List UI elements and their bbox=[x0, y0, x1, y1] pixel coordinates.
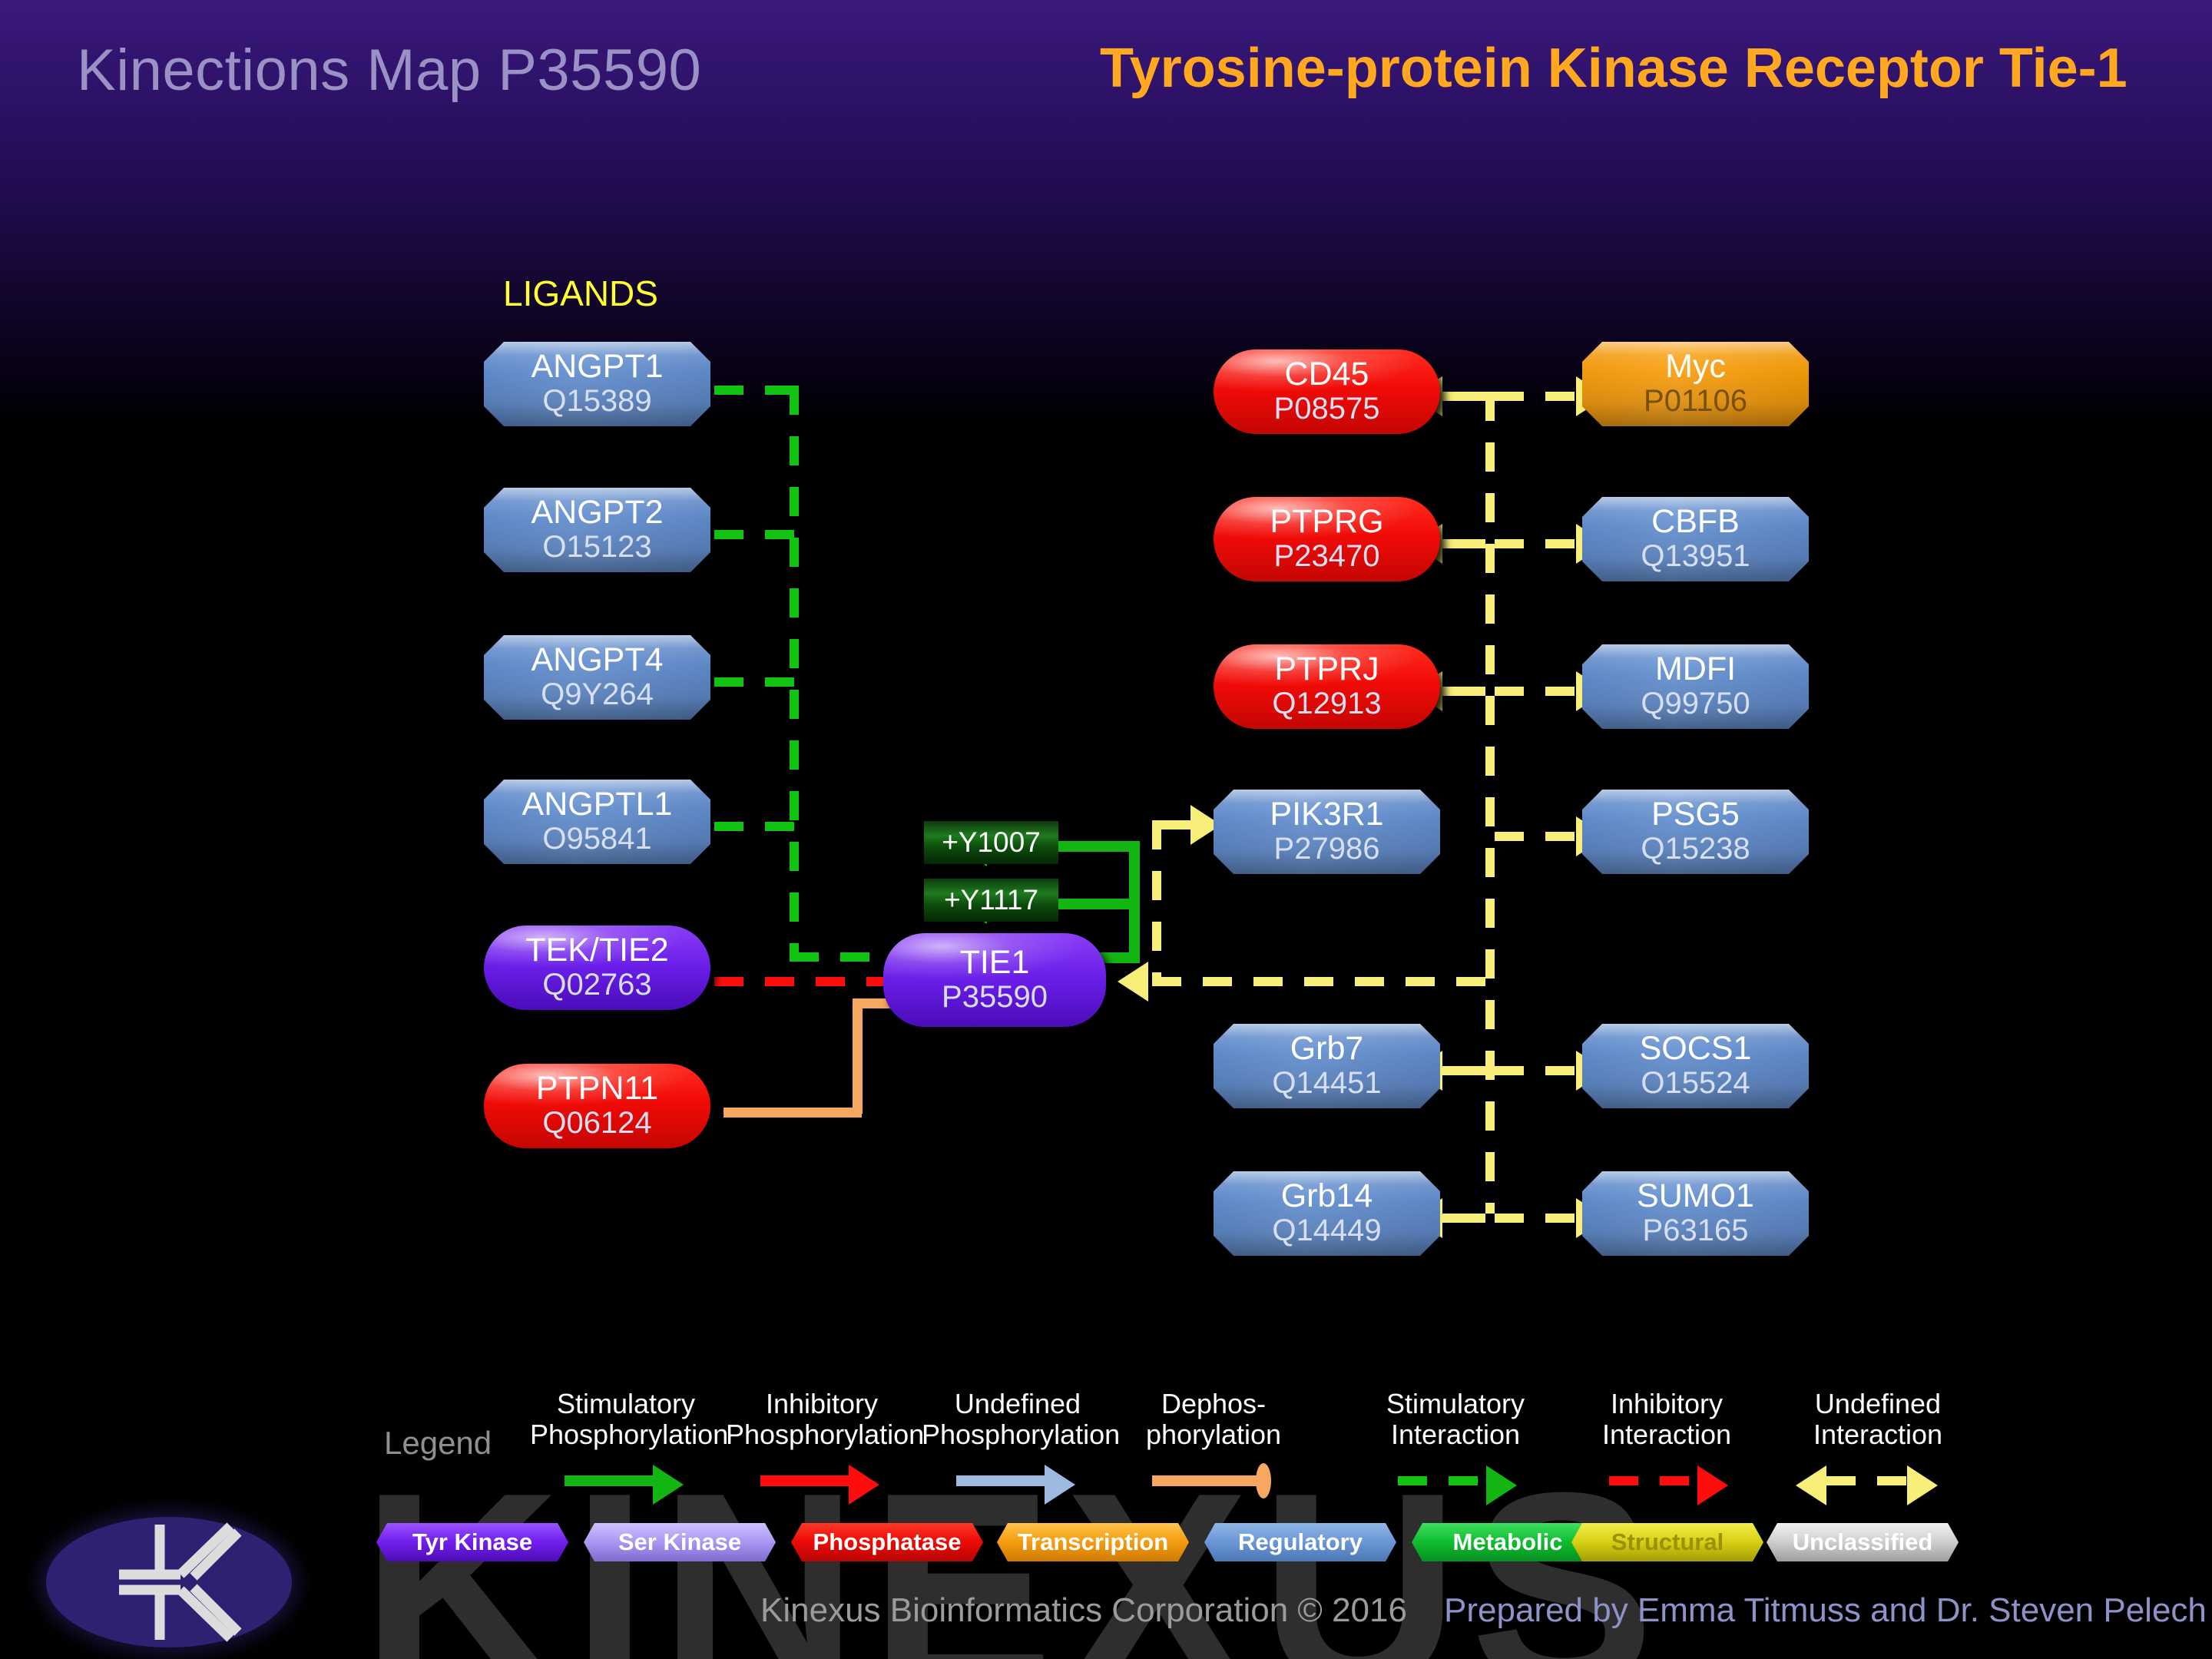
node-tie1[interactable]: TIE1 P35590 bbox=[883, 933, 1106, 1027]
node-angpt2[interactable]: ANGPT2 O15123 bbox=[484, 488, 710, 572]
legend-item-undefined-interaction: Undefined Interaction bbox=[1782, 1389, 1974, 1505]
node-name: MDFI bbox=[1655, 653, 1736, 687]
node-cbfb[interactable]: CBFB Q13951 bbox=[1582, 497, 1809, 581]
node-psg5[interactable]: PSG5 Q15238 bbox=[1582, 790, 1809, 874]
node-name: SOCS1 bbox=[1640, 1032, 1752, 1066]
ligand-bus-vertical bbox=[790, 386, 799, 962]
dashed-yellow-biarrow-icon bbox=[1782, 1457, 1974, 1505]
node-name: PIK3R1 bbox=[1270, 798, 1383, 832]
node-angpt4[interactable]: ANGPT4 Q9Y264 bbox=[484, 635, 710, 720]
node-accession: Q15389 bbox=[542, 384, 651, 419]
node-name: ANGPTL1 bbox=[522, 788, 673, 822]
edge-socs1-right bbox=[1495, 1066, 1581, 1075]
node-name: PSG5 bbox=[1651, 798, 1740, 832]
dashed-red-arrow-icon bbox=[1571, 1457, 1763, 1505]
node-name: PTPN11 bbox=[536, 1072, 658, 1106]
node-accession: Q99750 bbox=[1641, 687, 1750, 721]
node-name: Myc bbox=[1665, 350, 1726, 384]
node-socs1[interactable]: SOCS1 O15524 bbox=[1582, 1024, 1809, 1108]
node-ptprj[interactable]: PTPRJ Q12913 bbox=[1214, 644, 1440, 729]
edge-angpt2-stub bbox=[714, 530, 799, 539]
legend-item-undefined-phosphorylation: Undefined Phosphorylation bbox=[922, 1389, 1114, 1505]
legend-title: Legend bbox=[384, 1425, 492, 1462]
edge-bus-to-tie1 bbox=[1152, 977, 1493, 986]
node-accession: Q02763 bbox=[542, 968, 651, 1002]
node-accession: Q14451 bbox=[1272, 1066, 1381, 1101]
node-angptl1[interactable]: ANGPTL1 O95841 bbox=[484, 780, 710, 864]
node-ptprg[interactable]: PTPRG P23470 bbox=[1214, 497, 1440, 581]
edge-ptpn11-horizontal bbox=[724, 1108, 862, 1118]
node-accession: P23470 bbox=[1274, 539, 1380, 574]
node-name: ANGPT2 bbox=[531, 496, 663, 530]
solid-red-arrow-icon bbox=[726, 1457, 918, 1505]
ligands-section-label: LIGANDS bbox=[503, 273, 658, 314]
legend-label-line2: Phosphorylation bbox=[530, 1419, 722, 1450]
node-accession: O15123 bbox=[542, 530, 651, 565]
legend-label-line2: Phosphorylation bbox=[726, 1419, 918, 1450]
category-pill-structural[interactable]: Structural bbox=[1571, 1523, 1763, 1561]
kinexus-k-icon bbox=[46, 1517, 292, 1647]
edge-angpt1-stub bbox=[714, 386, 799, 395]
node-accession: P08575 bbox=[1274, 392, 1380, 426]
node-ptpn11[interactable]: PTPN11 Q06124 bbox=[484, 1064, 710, 1148]
node-grb14[interactable]: Grb14 Q14449 bbox=[1214, 1171, 1440, 1256]
legend-item-inhibitory-interaction: Inhibitory Interaction bbox=[1571, 1389, 1763, 1505]
node-name: PTPRG bbox=[1270, 505, 1383, 539]
legend-label-line1: Dephos- bbox=[1118, 1389, 1310, 1419]
arrowhead-bus-to-tie1 bbox=[1118, 962, 1148, 1002]
map-title: Kinections Map P35590 bbox=[77, 37, 701, 104]
category-pill-unclassified[interactable]: Unclassified bbox=[1767, 1523, 1959, 1561]
edge-angpt4-stub bbox=[714, 677, 799, 687]
interaction-bus-vertical bbox=[1485, 392, 1495, 1214]
edge-cbfb-right bbox=[1495, 539, 1581, 548]
node-grb7[interactable]: Grb7 Q14451 bbox=[1214, 1024, 1440, 1108]
node-name: Grb14 bbox=[1281, 1180, 1373, 1214]
node-accession: Q12913 bbox=[1272, 687, 1381, 721]
category-pill-phosphatase[interactable]: Phosphatase bbox=[791, 1523, 983, 1561]
legend-label-line1: Stimulatory bbox=[530, 1389, 722, 1419]
node-name: ANGPT4 bbox=[531, 644, 663, 677]
node-name: TEK/TIE2 bbox=[525, 934, 668, 968]
credit-text: Prepared by Emma Titmuss and Dr. Steven … bbox=[1444, 1591, 2207, 1630]
node-accession: O15524 bbox=[1641, 1066, 1750, 1101]
node-accession: O95841 bbox=[542, 822, 651, 856]
legend-item-stimulatory-interaction: Stimulatory Interaction bbox=[1359, 1389, 1551, 1505]
legend-label-line1: Undefined bbox=[1782, 1389, 1974, 1419]
node-sumo1[interactable]: SUMO1 P63165 bbox=[1582, 1171, 1809, 1256]
legend-label-line2: Phosphorylation bbox=[922, 1419, 1114, 1450]
node-accession: Q06124 bbox=[542, 1106, 651, 1141]
kinexus-logo bbox=[46, 1517, 292, 1647]
legend-label-line2: phorylation bbox=[1118, 1419, 1310, 1450]
legend-label-line2: Interaction bbox=[1782, 1419, 1974, 1450]
dashed-green-arrow-icon bbox=[1359, 1457, 1551, 1505]
edge-sumo1-right bbox=[1495, 1214, 1581, 1223]
node-accession: Q9Y264 bbox=[541, 677, 654, 712]
edge-mdfi-right bbox=[1495, 687, 1581, 696]
legend-item-dephosphorylation: Dephos- phorylation bbox=[1118, 1389, 1310, 1505]
node-name: CD45 bbox=[1285, 358, 1369, 392]
node-name: CBFB bbox=[1651, 505, 1740, 539]
edge-ptprj-left bbox=[1442, 687, 1485, 696]
legend-label-line1: Stimulatory bbox=[1359, 1389, 1551, 1419]
legend-item-inhibitory-phosphorylation: Inhibitory Phosphorylation bbox=[726, 1389, 918, 1505]
edge-ptprg-left bbox=[1442, 539, 1485, 548]
phosphosite-y1007[interactable]: +Y1007 bbox=[924, 821, 1058, 864]
category-pill-regulatory[interactable]: Regulatory bbox=[1204, 1523, 1396, 1561]
category-pill-transcription[interactable]: Transcription bbox=[997, 1523, 1189, 1561]
edge-ptpn11-vertical bbox=[853, 998, 863, 1114]
node-accession: Q15238 bbox=[1641, 832, 1750, 866]
node-cd45[interactable]: CD45 P08575 bbox=[1214, 349, 1440, 434]
orange-diamond-line-icon bbox=[1118, 1457, 1310, 1505]
legend-item-stimulatory-phosphorylation: Stimulatory Phosphorylation bbox=[530, 1389, 722, 1505]
solid-blue-arrow-icon bbox=[922, 1457, 1114, 1505]
edge-grb14-left bbox=[1442, 1214, 1485, 1223]
protein-title: Tyrosine-protein Kinase Receptor Tie-1 bbox=[1100, 37, 2128, 100]
node-tek-tie2[interactable]: TEK/TIE2 Q02763 bbox=[484, 926, 710, 1010]
phosphosite-y1117[interactable]: +Y1117 bbox=[924, 879, 1058, 922]
edge-angptl1-stub bbox=[714, 822, 799, 831]
copyright-text: Kinexus Bioinformatics Corporation © 201… bbox=[760, 1591, 1407, 1630]
node-name: ANGPT1 bbox=[531, 350, 663, 384]
legend-label-line1: Inhibitory bbox=[726, 1389, 918, 1419]
legend-label-line1: Inhibitory bbox=[1571, 1389, 1763, 1419]
solid-green-arrow-icon bbox=[530, 1457, 722, 1505]
node-name: TIE1 bbox=[960, 946, 1030, 980]
node-accession: P27986 bbox=[1274, 832, 1380, 866]
category-pill-tyr-kinase[interactable]: Tyr Kinase bbox=[376, 1523, 568, 1561]
edge-myc-right bbox=[1495, 392, 1581, 401]
category-pill-ser-kinase[interactable]: Ser Kinase bbox=[584, 1523, 776, 1561]
node-mdfi[interactable]: MDFI Q99750 bbox=[1582, 644, 1809, 729]
legend-label-line1: Undefined bbox=[922, 1389, 1114, 1419]
node-name: PTPRJ bbox=[1274, 653, 1379, 687]
node-myc[interactable]: Myc P01106 bbox=[1582, 342, 1809, 426]
kinections-map-canvas: Kinections Map P35590 Tyrosine-protein K… bbox=[0, 0, 2212, 1659]
node-accession: Q13951 bbox=[1641, 539, 1750, 574]
node-pik3r1[interactable]: PIK3R1 P27986 bbox=[1214, 790, 1440, 874]
node-accession: P01106 bbox=[1644, 384, 1747, 419]
edge-cd45-left bbox=[1442, 392, 1485, 401]
edge-pik3r1-stub bbox=[1152, 820, 1195, 829]
node-accession: P35590 bbox=[942, 980, 1048, 1015]
legend-label-line2: Interaction bbox=[1359, 1419, 1551, 1450]
node-angpt1[interactable]: ANGPT1 Q15389 bbox=[484, 342, 710, 426]
legend-label-line2: Interaction bbox=[1571, 1419, 1763, 1450]
edge-grb7-left bbox=[1442, 1066, 1485, 1075]
node-name: Grb7 bbox=[1290, 1032, 1364, 1066]
node-accession: Q14449 bbox=[1272, 1214, 1381, 1248]
edge-bus-riser-pik3r1 bbox=[1152, 820, 1161, 982]
node-name: SUMO1 bbox=[1637, 1180, 1754, 1214]
edge-psg5-right bbox=[1495, 832, 1581, 841]
node-accession: P63165 bbox=[1643, 1214, 1749, 1248]
